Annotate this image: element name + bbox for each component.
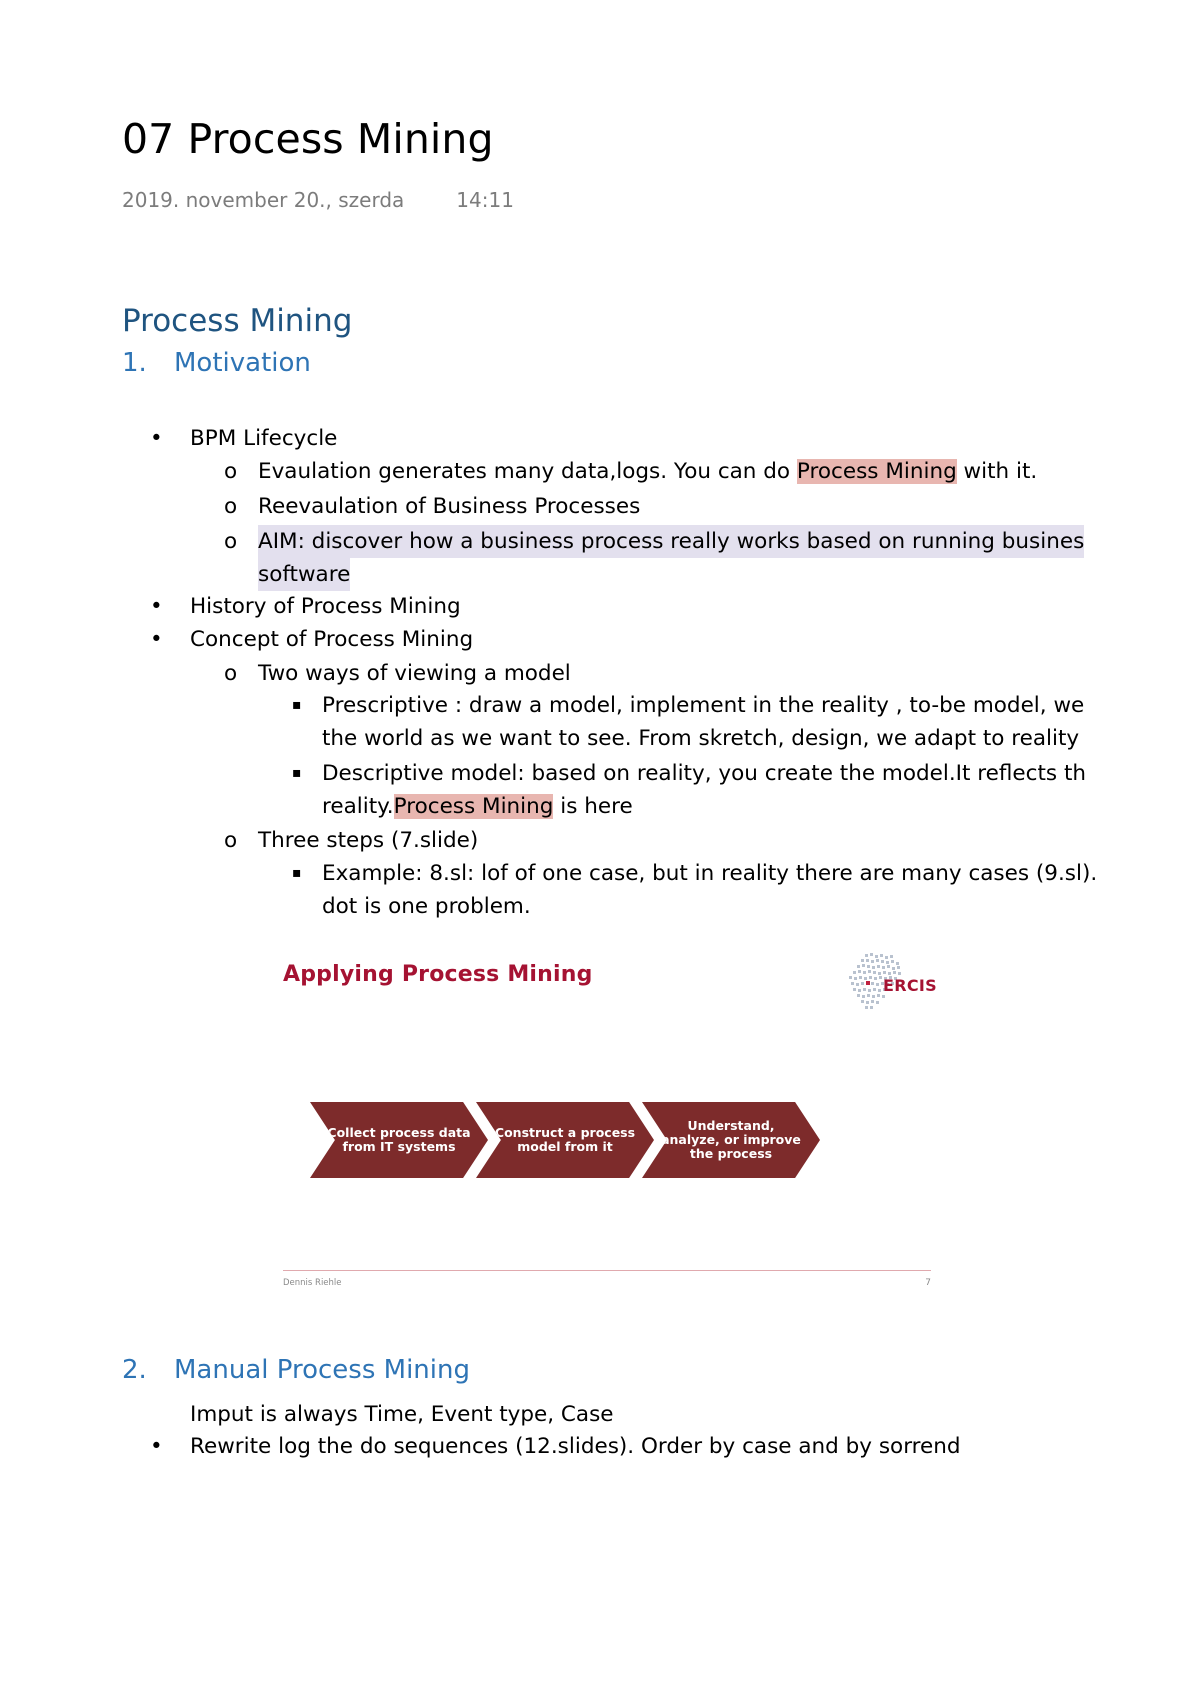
chevron-step-3: Understand, analyze, or improve the proc…: [642, 1102, 820, 1178]
list-item-aim-line1: AIM: discover how a business process rea…: [258, 525, 1084, 558]
chevron-step-3-label: Understand, analyze, or improve the proc…: [642, 1119, 820, 1161]
list-item: Three steps (7.slide): [258, 824, 478, 857]
bullet-dot-icon: •: [150, 422, 163, 455]
bullet-square-icon: ▪: [292, 857, 302, 890]
ercis-wordmark: ERCIS: [883, 976, 937, 995]
bullet-circle-icon: o: [224, 490, 237, 523]
process-steps-chevrons: Collect process data from IT systems Con…: [310, 1102, 808, 1178]
list-item-example-line1: Example: 8.sl: lof of one case, but in r…: [322, 857, 1097, 890]
bullet-circle-icon: o: [224, 824, 237, 857]
bullet-circle-icon: o: [224, 455, 237, 488]
ercis-logo: ERCIS: [835, 950, 935, 1012]
bullet-square-icon: ▪: [292, 757, 302, 790]
embedded-slide-image: Applying Process Mining: [275, 940, 935, 1310]
list-item: History of Process Mining: [190, 590, 461, 623]
bullet-circle-icon: o: [224, 657, 237, 690]
list-item-descriptive-line1: Descriptive model: based on reality, you…: [322, 757, 1086, 790]
list-item: Rewrite log the do sequences (12.slides)…: [190, 1430, 961, 1463]
list-item: Concept of Process Mining: [190, 623, 473, 656]
text-pre: Evaulation generates many data,logs. You…: [258, 459, 797, 484]
list-item: Reevaulation of Business Processes: [258, 490, 640, 523]
list-item-example-line2: dot is one problem.: [322, 890, 531, 923]
text-post: with it.: [957, 459, 1038, 484]
slide-divider: [283, 1270, 931, 1271]
bullet-dot-icon: •: [150, 590, 163, 623]
chevron-step-2-label: Construct a process model from it: [476, 1126, 654, 1154]
heading-1-label: Motivation: [174, 348, 311, 378]
list-item-prescriptive-line1: Prescriptive : draw a model, implement i…: [322, 689, 1084, 722]
list-item-prescriptive-line2: the world as we want to see. From skretc…: [322, 722, 1079, 755]
chevron-step-1: Collect process data from IT systems: [310, 1102, 488, 1178]
page-date: 2019. november 20., szerda: [122, 188, 404, 212]
section-2-intro-text: Imput is always Time, Event type, Case: [190, 1398, 614, 1431]
bullet-dot-icon: •: [150, 623, 163, 656]
list-item: BPM Lifecycle: [190, 422, 337, 455]
slide-footer-page: 7: [925, 1278, 931, 1288]
heading-1-number: 1.: [122, 348, 174, 378]
page-title: 07 Process Mining: [122, 118, 494, 161]
list-item: Evaulation generates many data,logs. You…: [258, 455, 1037, 488]
list-item: Two ways of viewing a model: [258, 657, 571, 690]
heading-2-number: 2.: [122, 1355, 174, 1385]
heading-2-label: Manual Process Mining: [174, 1355, 470, 1385]
onenote-page: 07 Process Mining 2019. november 20., sz…: [0, 0, 1200, 1698]
slide-title: Applying Process Mining: [283, 962, 593, 987]
text-pre: reality.: [322, 794, 394, 819]
heading-2-manual-process-mining: 2.Manual Process Mining: [122, 1355, 470, 1385]
slide-footer-author: Dennis Riehle: [283, 1278, 342, 1288]
page-time: 14:11: [456, 188, 514, 212]
highlight-process-mining: Process Mining: [394, 794, 554, 819]
bullet-dot-icon: •: [150, 1430, 163, 1463]
chevron-step-2: Construct a process model from it: [476, 1102, 654, 1178]
list-item-descriptive-line2: reality.Process Mining is here: [322, 790, 633, 823]
bullet-square-icon: ▪: [292, 689, 302, 722]
highlight-process-mining: Process Mining: [797, 459, 957, 484]
text-post: is here: [553, 794, 632, 819]
page-meta: 2019. november 20., szerda14:11: [122, 188, 514, 212]
section-heading-process-mining: Process Mining: [122, 303, 352, 339]
heading-1-motivation: 1.Motivation: [122, 348, 311, 378]
chevron-step-1-label: Collect process data from IT systems: [310, 1126, 488, 1154]
list-item-aim-line2: software: [258, 558, 350, 591]
bullet-circle-icon: o: [224, 525, 237, 558]
